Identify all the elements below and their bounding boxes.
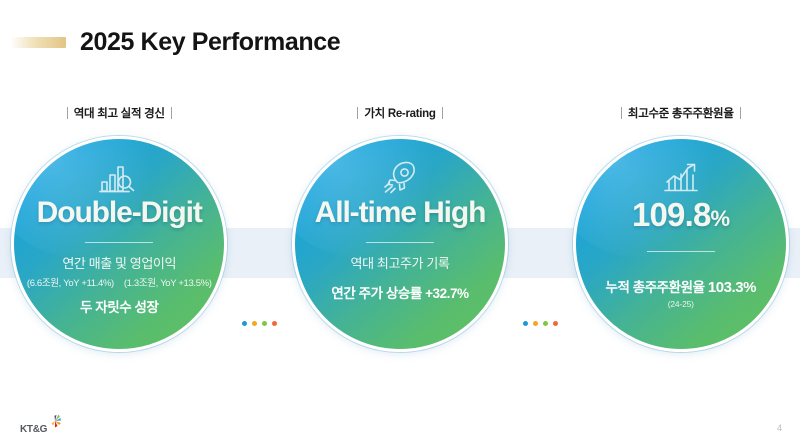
card-2-sub1: 역대 최고주가 기록 [351, 256, 450, 272]
card-3-headline: 109.8% [632, 198, 730, 231]
card-all-time-high: 가치 Re-rating All-time High [281, 104, 519, 352]
card-3-headline-suffix: % [711, 206, 730, 231]
pipe-left-icon [621, 107, 622, 119]
card-1-headline: Double-Digit [37, 198, 202, 228]
card-shareholder-return: 최고수준 총주주환원율 1 [562, 104, 800, 352]
card-3-divider [647, 251, 715, 252]
connector-dot [533, 321, 538, 326]
card-1-divider [85, 242, 153, 243]
card-1-sub1: 연간 매출 및 영업이익 [62, 256, 176, 272]
card-1-paren-2: (1.3조원, YoY +13.5%) [124, 275, 212, 289]
pipe-right-icon [740, 107, 741, 119]
card-3-circle-wrap: 109.8% 누적 총주주환원율 103.3% (24-25) [573, 136, 789, 352]
card-3-sub2-value: 103.3% [708, 279, 756, 296]
card-3-sub2: 누적 총주주환원율 103.3% [606, 276, 757, 296]
card-1-circle-wrap: Double-Digit 연간 매출 및 영업이익 (6.6조원, YoY +1… [11, 136, 227, 352]
card-1-paren-1: (6.6조원, YoY +11.4%) [27, 275, 114, 289]
connector-dot [272, 321, 277, 326]
pipe-right-icon [171, 107, 172, 119]
card-2-headline: All-time High [315, 198, 486, 228]
page-title-row: 2025 Key Performance [0, 28, 340, 57]
card-2-circle: All-time High 역대 최고주가 기록 연간 주가 상승률 +32.7… [292, 136, 508, 352]
card-3-header: 최고수준 총주주환원율 [621, 104, 741, 122]
card-3-header-label: 최고수준 총주주환원율 [628, 105, 734, 121]
connector-dot [523, 321, 528, 326]
pinwheel-icon [48, 413, 62, 434]
card-2-header-label: 가치 Re-rating [364, 105, 435, 121]
connector-dot [242, 321, 247, 326]
kt-g-logo: KT&G [20, 413, 62, 435]
connector-dot [262, 321, 267, 326]
card-2-divider [366, 242, 434, 243]
connector-dot [252, 321, 257, 326]
card-3-note: (24-25) [668, 299, 694, 309]
card-2-circle-wrap: All-time High 역대 최고주가 기록 연간 주가 상승률 +32.7… [292, 136, 508, 352]
connector-dot [553, 321, 558, 326]
card-1-paren-group: (6.6조원, YoY +11.4%) (1.3조원, YoY +13.5%) [27, 275, 212, 289]
page-number: 4 [777, 423, 782, 433]
logo-text: KT&G [20, 425, 47, 435]
connector-1 [238, 104, 280, 394]
pipe-left-icon [67, 107, 68, 119]
card-1-sub2: 두 자릿수 성장 [80, 296, 158, 316]
pipe-left-icon [357, 107, 358, 119]
title-accent-bar [10, 37, 66, 48]
growth-chart-icon [662, 161, 700, 195]
pipe-right-icon [442, 107, 443, 119]
page-title: 2025 Key Performance [80, 28, 340, 57]
card-2-sub2: 연간 주가 상승률 +32.7% [331, 282, 468, 302]
connector-2 [519, 104, 561, 394]
rocket-icon [381, 161, 419, 195]
card-3-circle: 109.8% 누적 총주주환원율 103.3% (24-25) [573, 136, 789, 352]
card-1-header: 역대 최고 실적 경신 [67, 104, 172, 122]
card-3-sub2-label: 누적 총주주환원율 [606, 280, 708, 295]
bar-chart-search-icon [99, 161, 139, 195]
card-1-circle: Double-Digit 연간 매출 및 영업이익 (6.6조원, YoY +1… [11, 136, 227, 352]
connector-dot [543, 321, 548, 326]
card-1-header-label: 역대 최고 실적 경신 [74, 105, 165, 121]
card-double-digit: 역대 최고 실적 경신 Double-Digit 연간 매출 및 [0, 104, 238, 352]
card-2-header: 가치 Re-rating [357, 104, 442, 122]
performance-cards: 역대 최고 실적 경신 Double-Digit 연간 매출 및 [0, 104, 800, 394]
card-3-headline-value: 109.8 [632, 196, 711, 233]
